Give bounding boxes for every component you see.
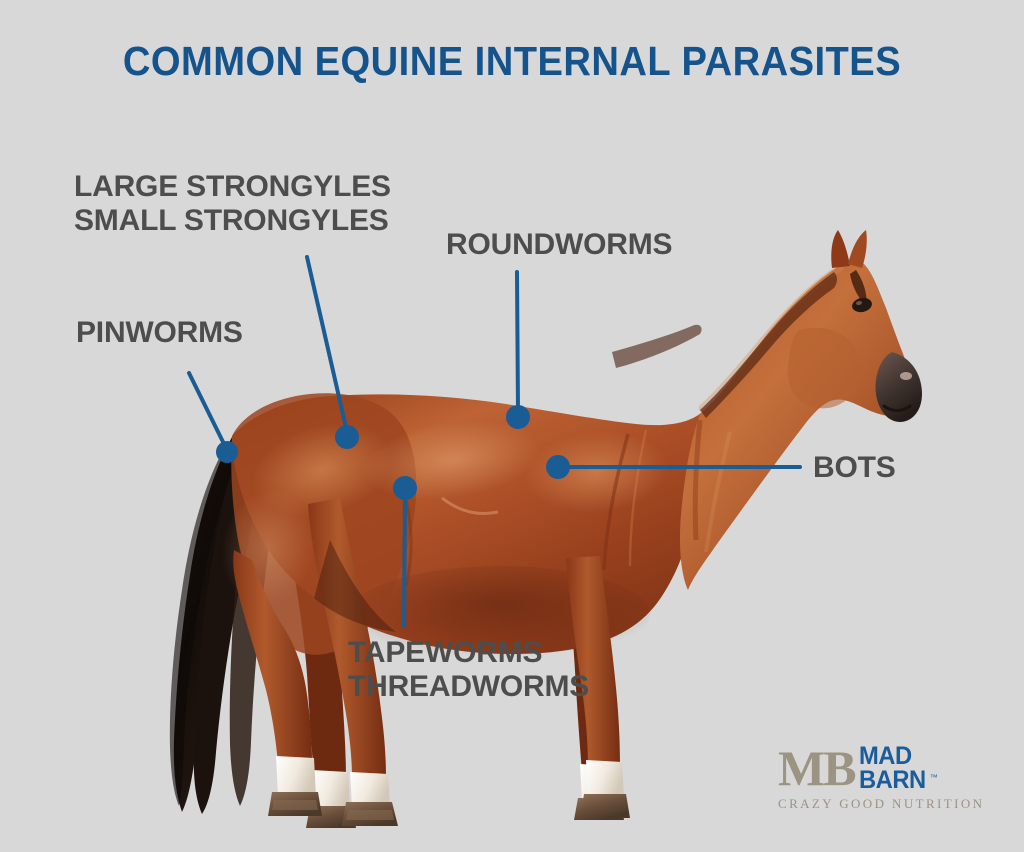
callout-label-bots: BOTS — [813, 451, 896, 485]
callout-label-bots-line1: BOTS — [813, 451, 896, 484]
logo-row: MB MAD BARN ™ — [778, 742, 998, 794]
horse-illustration — [0, 0, 1024, 852]
callout-label-pinworms-line1: PINWORMS — [76, 316, 243, 349]
callout-label-strongyles-line1: LARGE STRONGYLES — [74, 170, 391, 203]
logo-monogram: MB — [778, 743, 855, 793]
trademark-symbol: ™ — [930, 773, 938, 782]
logo-tagline: CRAZY GOOD NUTRITION — [778, 796, 998, 812]
callout-label-tapeworms-line2: THREADWORMS — [348, 670, 589, 704]
callout-label-tapeworms-line1: TAPEWORMS — [348, 636, 542, 669]
logo-brand-words: MAD BARN ™ — [859, 744, 929, 792]
callout-label-pinworms: PINWORMS — [76, 316, 243, 350]
horse-body — [212, 393, 701, 662]
callout-label-roundworms-line1: ROUNDWORMS — [446, 228, 672, 261]
callout-label-strongyles-line2: SMALL STRONGYLES — [74, 204, 391, 238]
callout-label-strongyles: LARGE STRONGYLES SMALL STRONGYLES — [74, 170, 391, 238]
logo-brand-line1: MAD — [859, 744, 926, 768]
infographic-canvas: COMMON EQUINE INTERNAL PARASITES LARGE S… — [0, 0, 1024, 852]
callout-label-tapeworms: TAPEWORMS THREADWORMS — [348, 636, 589, 704]
mad-barn-logo: MB MAD BARN ™ CRAZY GOOD NUTRITION — [778, 742, 998, 818]
logo-brand-line2: BARN — [859, 768, 926, 792]
callout-label-roundworms: ROUNDWORMS — [446, 228, 672, 262]
page-title: COMMON EQUINE INTERNAL PARASITES — [36, 38, 988, 85]
